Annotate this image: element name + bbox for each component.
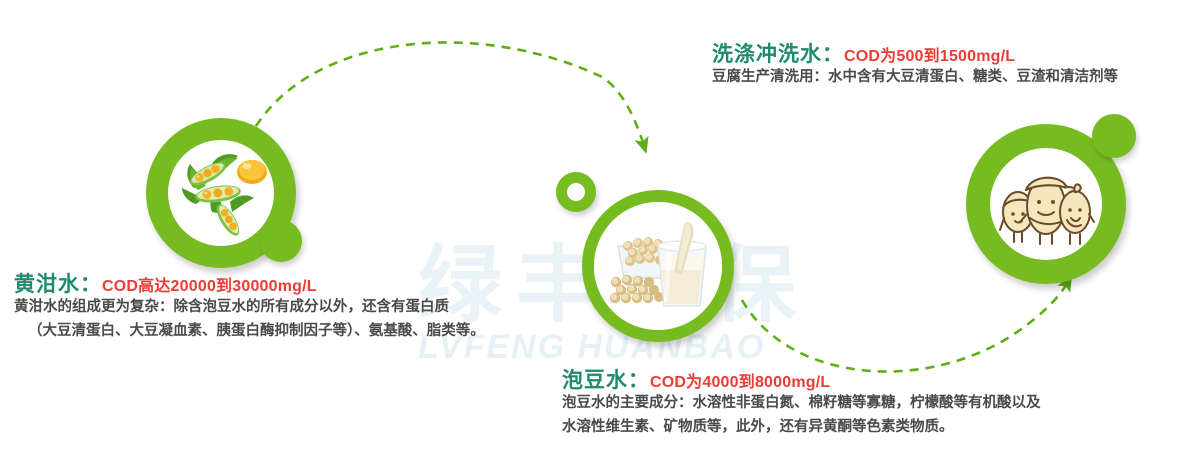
ring-inner-white — [594, 202, 722, 330]
ring-inner-white — [168, 140, 274, 246]
wash-water-title: 洗涤冲洗水： — [712, 43, 844, 66]
node-soymilk — [556, 172, 766, 362]
accent-ring-hole — [567, 183, 585, 201]
soak-water-body-line-2: 水溶性维生素、矿物质等，此外，还有异黄酮等色素类物质。 — [562, 415, 1041, 439]
yellow-water-body-line-2: （大豆清蛋白、大豆凝血素、胰蛋白酶抑制因子等）、氨基酸、脂类等。 — [14, 319, 485, 343]
yellow-water-body-line-1: 黄泔水的组成更为复杂：除含泡豆水的所有成分以外，还含有蛋白质 — [14, 295, 485, 319]
yellow-water-heading: 黄泔水：COD高达20000到30000mg/L — [14, 274, 485, 295]
wash-water-cod: COD为500到1500mg/L — [844, 48, 1015, 65]
text-block-wash-water: 洗涤冲洗水：COD为500到1500mg/L 豆腐生产清洗用：水中含有大豆清蛋白… — [712, 44, 1118, 89]
soybeans-and-soymilk-icon — [594, 202, 722, 330]
soybean-characters-icon — [990, 148, 1102, 260]
accent-ring — [1092, 114, 1136, 158]
ring-inner-white — [990, 148, 1102, 260]
soak-water-heading: 泡豆水：COD为4000到8000mg/L — [562, 370, 1041, 391]
node-soybean-characters — [966, 114, 1181, 289]
accent-ring — [260, 220, 302, 262]
accent-ring — [556, 172, 596, 212]
soak-water-title: 泡豆水： — [562, 369, 650, 392]
arrow-soymilk-to-characters — [742, 282, 1068, 372]
soak-water-cod: COD为4000到8000mg/L — [650, 374, 830, 391]
wash-water-body-line-1: 豆腐生产清洗用：水中含有大豆清蛋白、糖类、豆渣和清洁剂等 — [712, 65, 1118, 89]
text-block-yellow-water: 黄泔水：COD高达20000到30000mg/L 黄泔水的组成更为复杂：除含泡豆… — [14, 274, 485, 343]
yellow-water-cod: COD高达20000到30000mg/L — [102, 278, 317, 295]
text-block-soak-water: 泡豆水：COD为4000到8000mg/L 泡豆水的主要成分：水溶性非蛋白氮、棉… — [562, 370, 1041, 439]
soybean-pods-icon — [168, 140, 274, 246]
soak-water-body-line-1: 泡豆水的主要成分：水溶性非蛋白氮、棉籽糖等寡糖，柠檬酸等有机酸以及 — [562, 391, 1041, 415]
infographic-canvas: 绿丰环保 LVFENG HUANBAO — [0, 0, 1200, 458]
yellow-water-title: 黄泔水： — [14, 273, 102, 296]
node-soybean-pods — [146, 118, 361, 278]
wash-water-heading: 洗涤冲洗水：COD为500到1500mg/L — [712, 44, 1118, 65]
